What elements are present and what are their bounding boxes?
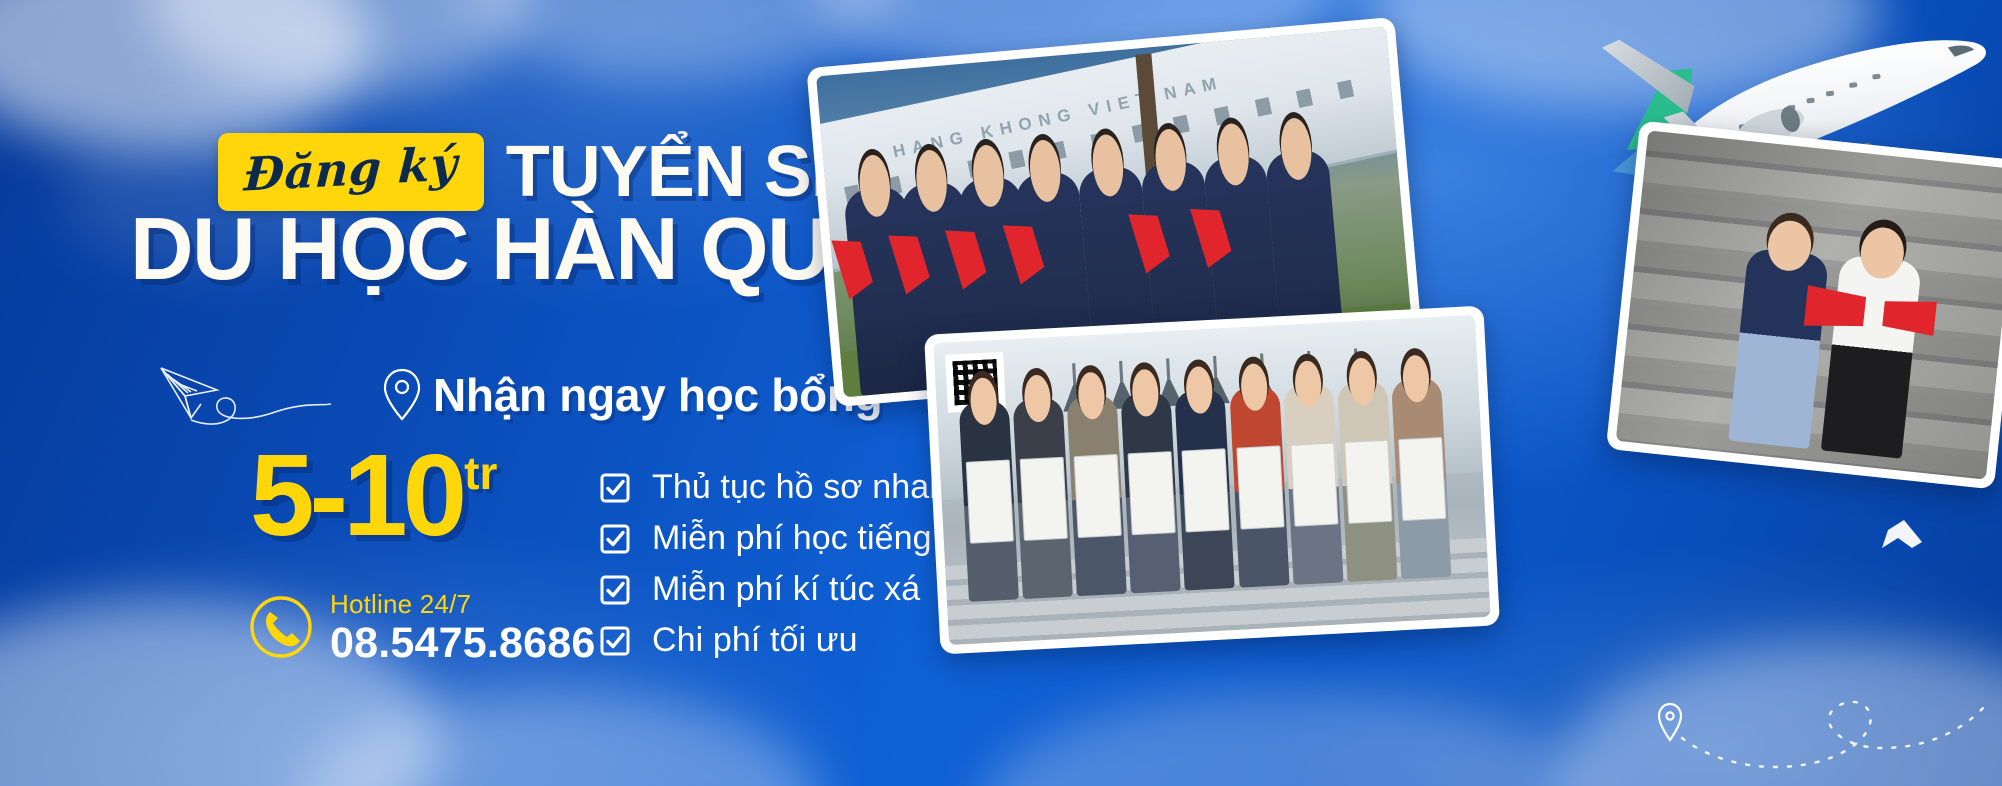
- hotline-label: Hotline 24/7: [330, 588, 595, 621]
- dang-ky-label: Đăng ký: [243, 140, 459, 197]
- price-block: 5-10 tr: [250, 440, 497, 550]
- checkbox-checked-icon: [600, 575, 630, 605]
- phone-ring-icon: [248, 594, 314, 660]
- location-pin-icon: [381, 367, 423, 423]
- banner-root: Đăng ký TUYỂN SINH DU HỌC HÀN QUỐC: [0, 0, 2002, 786]
- paper-plane-icon: [155, 360, 385, 430]
- price-unit: tr: [464, 446, 497, 500]
- list-item-label: Thủ tục hồ sơ nhanh: [652, 468, 967, 507]
- list-item-label: Miễn phí kí túc xá: [652, 570, 920, 609]
- photo-couple-on-steps: [1606, 121, 2002, 490]
- hotline-number[interactable]: 08.5475.8686: [330, 621, 595, 666]
- list-item-label: Chi phí tối ưu: [652, 621, 858, 660]
- checkbox-checked-icon: [600, 524, 630, 554]
- checkbox-checked-icon: [600, 626, 630, 656]
- checkbox-checked-icon: [600, 473, 630, 503]
- photo-students-with-visas: [924, 306, 1500, 655]
- subtitle-text: Nhận ngay học bổng: [433, 368, 882, 422]
- subtitle-row: Nhận ngay học bổng: [155, 360, 882, 430]
- hotline-text-group: Hotline 24/7 08.5475.8686: [330, 588, 595, 666]
- price-amount: 5-10: [250, 440, 462, 550]
- dotted-flight-path: [1442, 486, 2002, 786]
- photo-collage: HANG KHONG VIET NAM: [1020, 0, 2002, 786]
- hotline-block[interactable]: Hotline 24/7 08.5475.8686: [248, 588, 595, 666]
